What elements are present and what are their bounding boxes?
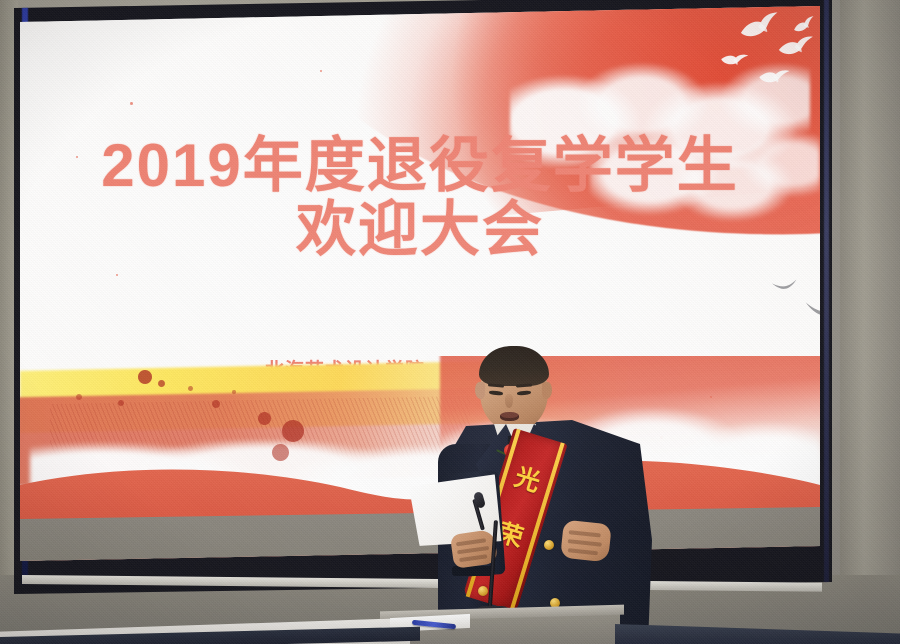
slide-speckle-2 (116, 274, 118, 276)
slide-title: 2019年度退役复学学生 欢迎大会 (20, 134, 820, 261)
band-ink-blot-3 (118, 400, 124, 406)
slide-title-line1: 2019年度退役复学学生 (101, 132, 738, 199)
slide-title-line2: 欢迎大会 (20, 198, 820, 262)
finger-3 (459, 554, 487, 562)
speaker-hair (479, 346, 549, 386)
band-ink-blot-9 (232, 390, 236, 394)
uniform-button-2 (544, 540, 554, 550)
slide-speckle-1 (130, 102, 133, 105)
speaker-ear-right (542, 382, 552, 399)
speaker-mouth (500, 412, 519, 421)
band-ink-blot-5 (258, 412, 271, 425)
band-ink-blot-1 (138, 370, 152, 384)
slide-speckle-4 (320, 70, 322, 72)
wall-right-panel (840, 0, 900, 644)
speaker-left-cuff (452, 566, 494, 576)
speaker-hand-right (560, 520, 612, 563)
band-ink-blot-2 (158, 380, 165, 387)
band-ink-blot-10 (76, 394, 82, 400)
photo-scene: 2019年度退役复学学生 欢迎大会 北海艺术设计学院 2019年12月12日 (0, 0, 900, 644)
finger-4 (569, 530, 601, 537)
speaker-figure: 光 荣 (438, 340, 658, 644)
speaker-nose (505, 394, 513, 408)
finger-1 (456, 538, 486, 546)
band-ink-blot-6 (282, 420, 304, 442)
band-ink-blot-8 (188, 386, 193, 391)
screen-frame-blue-edge-right (824, 0, 829, 584)
band-ink-blot-4 (212, 400, 220, 408)
projected-slide: 2019年度退役复学学生 欢迎大会 北海艺术设计学院 2019年12月12日 (20, 6, 820, 561)
speaker-ear-left (475, 382, 485, 399)
finger-5 (568, 539, 602, 547)
finger-6 (568, 548, 598, 555)
sash-character-top: 光 (496, 453, 560, 504)
uniform-button-3 (478, 586, 488, 596)
finger-2 (457, 546, 489, 554)
